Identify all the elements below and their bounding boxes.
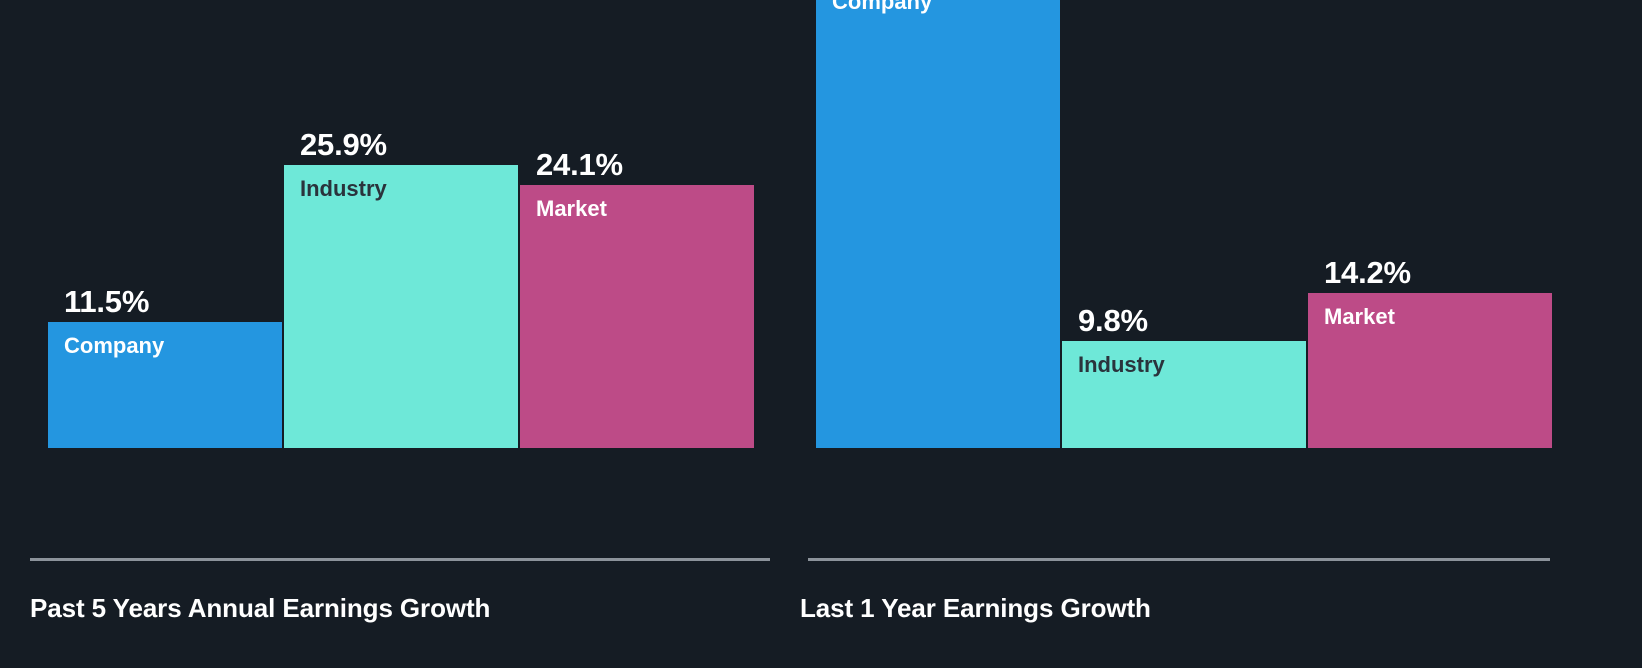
bar-value-label: 25.9%: [300, 129, 387, 160]
bar-series-label: Industry: [300, 178, 387, 200]
bar-market[interactable]: 24.1% Market: [520, 185, 754, 448]
bar-series-label: Market: [1324, 306, 1395, 328]
bar-column-market: 14.2% Market: [1308, 0, 1552, 448]
bar-column-industry: 9.8% Industry: [1062, 0, 1306, 448]
bar-column-company: 43.0% Company: [816, 0, 1060, 448]
bar-company[interactable]: 43.0% Company: [816, 0, 1060, 448]
bar-group-right: 43.0% Company 9.8% Industry 14.2% Market: [816, 0, 1552, 448]
chart-panel-last-1-year: 43.0% Company 9.8% Industry 14.2% Market: [800, 0, 1642, 668]
bar-series-label: Company: [832, 0, 932, 13]
bar-company[interactable]: 11.5% Company: [48, 322, 282, 448]
bar-column-industry: 25.9% Industry: [284, 0, 518, 448]
chart-title-right: Last 1 Year Earnings Growth: [800, 593, 1151, 624]
chart-title-left: Past 5 Years Annual Earnings Growth: [30, 593, 490, 624]
bar-column-market: 24.1% Market: [520, 0, 754, 448]
bar-industry[interactable]: 25.9% Industry: [284, 165, 518, 448]
bar-industry[interactable]: 9.8% Industry: [1062, 341, 1306, 448]
bar-group-left: 11.5% Company 25.9% Industry 24.1% Marke…: [48, 0, 754, 448]
earnings-growth-chart: 11.5% Company 25.9% Industry 24.1% Marke…: [0, 0, 1642, 668]
x-axis-line-left: [30, 558, 770, 561]
bar-value-label: 24.1%: [536, 149, 623, 180]
bar-series-label: Market: [536, 198, 607, 220]
chart-panel-past-5-years: 11.5% Company 25.9% Industry 24.1% Marke…: [0, 0, 800, 668]
plot-area-left: 11.5% Company 25.9% Industry 24.1% Marke…: [0, 0, 800, 558]
bar-value-label: 9.8%: [1078, 305, 1148, 336]
bar-value-label: 14.2%: [1324, 257, 1411, 288]
bar-column-company: 11.5% Company: [48, 0, 282, 448]
bar-value-label: 11.5%: [64, 286, 149, 317]
bar-series-label: Industry: [1078, 354, 1165, 376]
x-axis-line-right: [808, 558, 1550, 561]
plot-area-right: 43.0% Company 9.8% Industry 14.2% Market: [800, 0, 1642, 558]
bar-series-label: Company: [64, 335, 164, 357]
bar-market[interactable]: 14.2% Market: [1308, 293, 1552, 448]
